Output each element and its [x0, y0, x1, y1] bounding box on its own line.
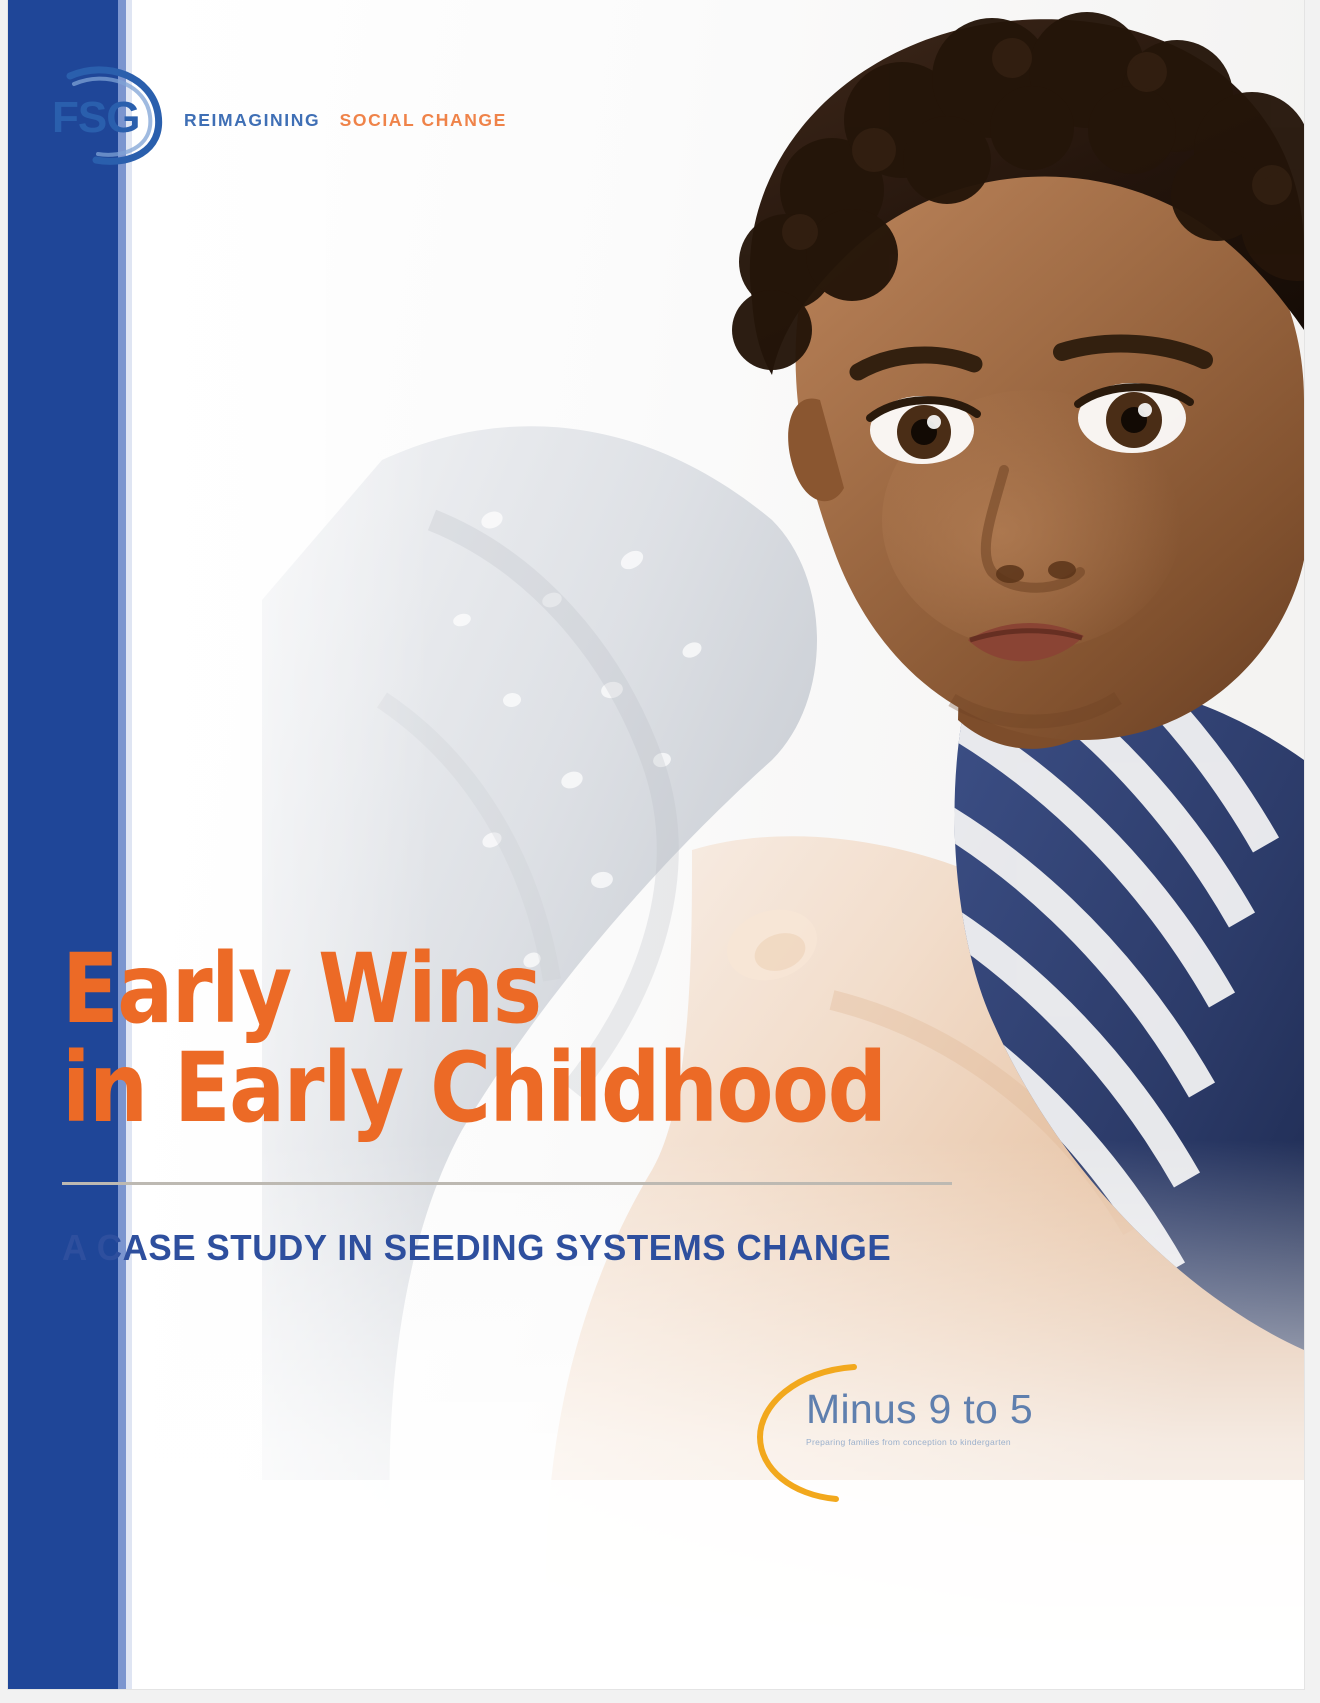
svg-text:FSG: FSG: [52, 93, 139, 142]
minus-9-to-5-logo: Minus 9 to 5 Preparing families from con…: [744, 1345, 1044, 1505]
cover-subtitle: A CASE STUDY IN SEEDING SYSTEMS CHANGE: [62, 1227, 954, 1269]
minus-9-to-5-text: Minus 9 to 5 Preparing families from con…: [806, 1389, 1033, 1447]
report-cover-page: FSG REIMAGINING SOCIAL CHANGE Early Wins…: [0, 0, 1320, 1703]
title-divider-rule: [62, 1182, 952, 1185]
left-spine-bar-highlight: [118, 0, 126, 1689]
fsg-logo: FSG REIMAGINING SOCIAL CHANGE: [48, 62, 507, 166]
minus-9-to-5-wordmark: Minus 9 to 5: [806, 1389, 1033, 1430]
fsg-tagline-primary: REIMAGINING: [184, 110, 320, 130]
cover-title-line-2: in Early Childhood: [62, 1039, 945, 1138]
cover-photograph-illustration: [132, 0, 1304, 1689]
page-canvas: FSG REIMAGINING SOCIAL CHANGE Early Wins…: [8, 0, 1304, 1689]
minus-9-to-5-tagline: Preparing families from conception to ki…: [806, 1437, 1033, 1447]
fsg-tagline-secondary: SOCIAL CHANGE: [340, 110, 507, 130]
left-spine-bar: [8, 0, 118, 1689]
cover-title-block: Early Wins in Early Childhood A CASE STU…: [62, 940, 982, 1269]
cover-title-line-1: Early Wins: [62, 940, 945, 1039]
cover-photograph: [132, 0, 1304, 1689]
fsg-logo-mark-icon: FSG: [48, 62, 166, 166]
fsg-tagline: REIMAGINING SOCIAL CHANGE: [184, 98, 507, 130]
